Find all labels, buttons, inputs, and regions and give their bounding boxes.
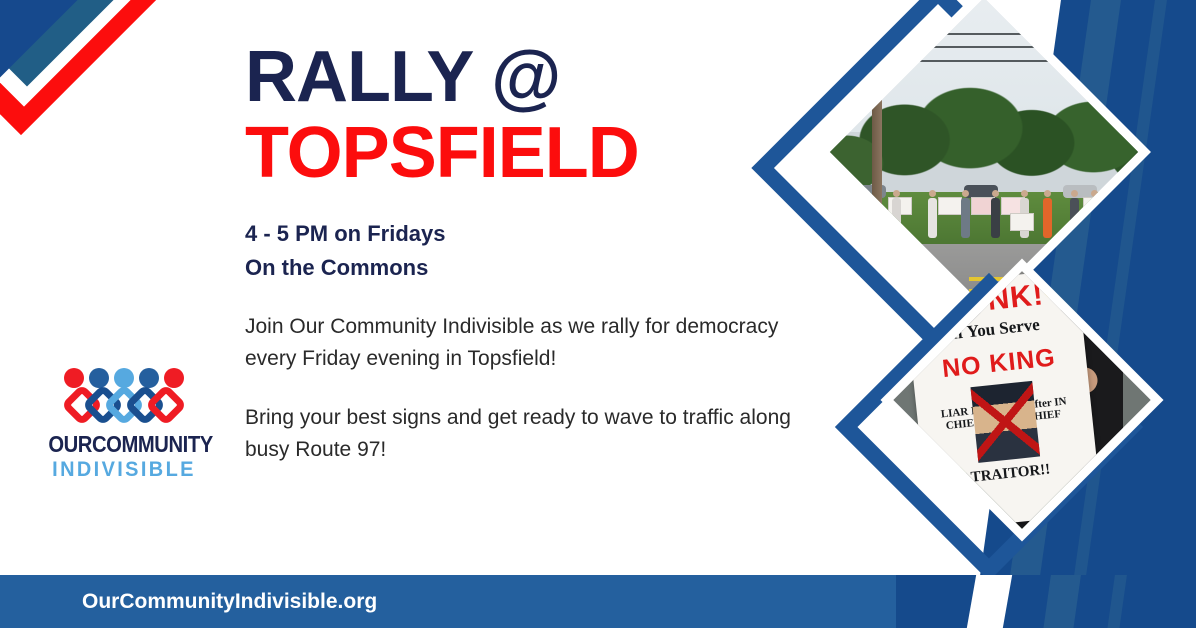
logo-head-1	[64, 368, 84, 388]
deep-blue-chevron-shape	[0, 0, 105, 105]
footer-website-url[interactable]: OurCommunityIndivisible.org	[82, 590, 377, 614]
logo-head-3	[114, 368, 134, 388]
content-column: RALLY @ TOPSFIELD 4 - 5 PM on Fridays On…	[245, 0, 845, 465]
page-title-line2: TOPSFIELD	[245, 116, 845, 192]
logo-name-top: OURCOMMUNITY	[48, 432, 199, 457]
logo-interlocking-rings	[38, 382, 210, 428]
red-chevron-shape	[0, 0, 175, 135]
organization-logo: OURCOMMUNITY INDIVISIBLE	[38, 368, 210, 482]
sign-serve-text: If You Serve	[950, 315, 1041, 344]
logo-head-5	[164, 368, 184, 388]
logo-name-bottom: INDIVISIBLE	[42, 457, 205, 482]
white-gap-shape	[0, 0, 163, 107]
description-paragraph-1: Join Our Community Indivisible as we ral…	[245, 311, 815, 374]
footer-bar: OurCommunityIndivisible.org	[0, 575, 1196, 628]
sign-traitor-text: TRAITOR!!	[970, 461, 1051, 486]
description-paragraph-2: Bring your best signs and get ready to w…	[245, 402, 815, 465]
rally-flyer: HONK! If You Serve NO KING LIAR IN CHIEF…	[0, 0, 1196, 628]
sign-photo-inset	[970, 381, 1040, 463]
sign-noking-text: NO KING	[940, 343, 1056, 384]
page-title-line1: RALLY @	[245, 0, 845, 116]
logo-head-2	[89, 368, 109, 388]
event-location: On the Commons	[245, 251, 845, 285]
logo-head-4	[139, 368, 159, 388]
footer-decoration	[896, 575, 1196, 628]
event-time: 4 - 5 PM on Fridays	[245, 217, 845, 251]
steel-blue-chevron-shape	[0, 0, 159, 87]
